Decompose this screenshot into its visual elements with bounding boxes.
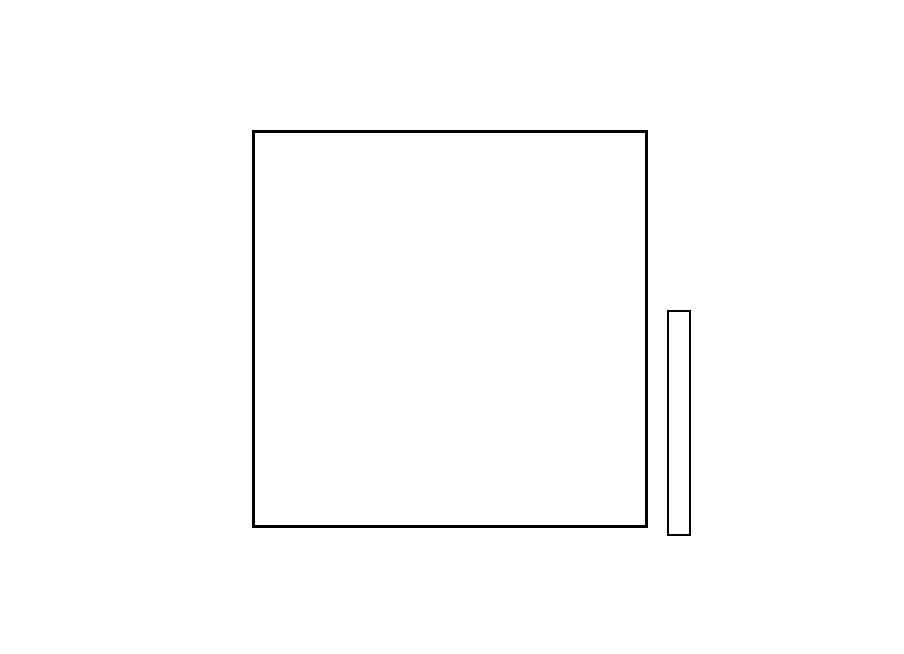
contour-plot[interactable] [252, 130, 648, 528]
colorbar[interactable] [669, 312, 689, 534]
contour-plot-canvas [252, 130, 648, 528]
